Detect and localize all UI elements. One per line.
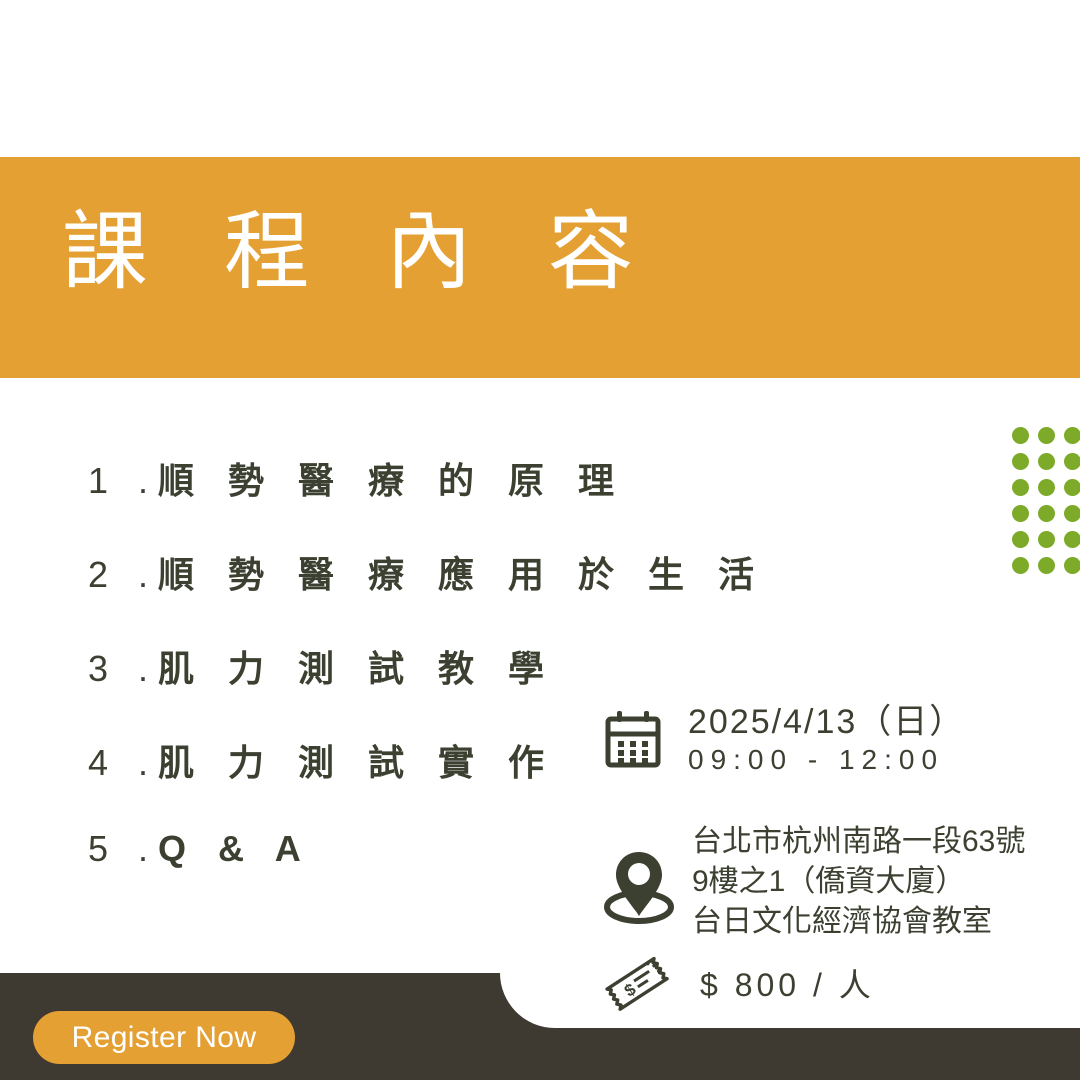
- dot: [1012, 479, 1029, 496]
- event-time: 09:00 - 12:00: [688, 742, 965, 778]
- event-price-row: $ $ 800 / 人: [600, 950, 875, 1025]
- list-item-number: 1 .: [88, 460, 158, 502]
- list-item-label: Q & A: [158, 828, 312, 870]
- dot: [1012, 427, 1029, 444]
- event-address-lines: 台北市杭州南路一段63號 9樓之1（僑資大廈） 台日文化經濟協會教室: [692, 822, 1025, 942]
- dot: [1012, 531, 1029, 548]
- dot: [1038, 479, 1055, 496]
- list-item-number: 4 .: [88, 742, 158, 784]
- dot: [1038, 531, 1055, 548]
- dot: [1064, 453, 1080, 470]
- dot: [1064, 505, 1080, 522]
- address-line: 9樓之1（僑資大廈）: [692, 862, 1025, 902]
- dot-grid-decoration: [1012, 427, 1080, 583]
- register-now-button[interactable]: Register Now: [33, 1011, 295, 1064]
- address-line: 台日文化經濟協會教室: [692, 902, 1025, 942]
- calendar-icon: [600, 706, 666, 777]
- address-line: 台北市杭州南路一段63號: [692, 822, 1025, 862]
- dot: [1012, 453, 1029, 470]
- list-item-label: 順 勢 醫 療 應 用 於 生 活: [158, 546, 766, 598]
- dot: [1064, 427, 1080, 444]
- dot: [1038, 453, 1055, 470]
- dot: [1064, 531, 1080, 548]
- poster-canvas: 課 程 內 容 1 . 順 勢 醫 療 的 原 理 2 . 順 勢 醫 療 應 …: [0, 0, 1080, 1080]
- list-item: 2 . 順 勢 醫 療 應 用 於 生 活: [88, 546, 728, 640]
- ticket-icon: $: [600, 950, 678, 1025]
- list-item: 1 . 順 勢 醫 療 的 原 理: [88, 452, 728, 546]
- event-date-row: 2025/4/13（日） 09:00 - 12:00: [600, 702, 965, 778]
- map-pin-icon: [600, 844, 678, 931]
- dot: [1038, 505, 1055, 522]
- event-location-row: 台北市杭州南路一段63號 9樓之1（僑資大廈） 台日文化經濟協會教室: [600, 822, 1025, 942]
- list-item-label: 肌 力 測 試 實 作: [158, 734, 556, 786]
- page-title: 課 程 內 容: [62, 209, 660, 295]
- dot: [1012, 557, 1029, 574]
- dot: [1064, 557, 1080, 574]
- title-band: 課 程 內 容: [0, 157, 1080, 378]
- list-item-number: 3 .: [88, 648, 158, 690]
- event-price: $ 800 / 人: [700, 950, 875, 1020]
- event-date-text-group: 2025/4/13（日） 09:00 - 12:00: [688, 702, 965, 778]
- dot: [1064, 479, 1080, 496]
- list-item-label: 肌 力 測 試 教 學: [158, 640, 556, 692]
- dot: [1038, 427, 1055, 444]
- dot: [1038, 557, 1055, 574]
- event-date: 2025/4/13（日）: [688, 702, 965, 742]
- list-item-label: 順 勢 醫 療 的 原 理: [158, 452, 626, 504]
- dot: [1012, 505, 1029, 522]
- list-item-number: 5 .: [88, 828, 158, 870]
- list-item-number: 2 .: [88, 554, 158, 596]
